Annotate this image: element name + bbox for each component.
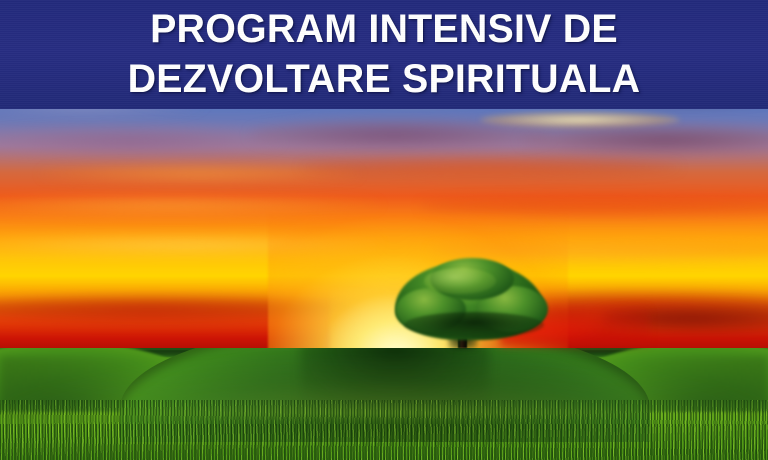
title-banner: PROGRAM INTENSIV DE DEZVOLTARE SPIRITUAL… — [0, 0, 768, 109]
cloud-mauve-band-right — [520, 126, 768, 154]
cloud-mauve-band-left — [0, 128, 280, 154]
cloud-orange-streak-3 — [0, 196, 380, 214]
cloud-orange-streak-4 — [420, 196, 768, 216]
tree-canopy-underside-shadow — [404, 312, 544, 338]
spiritual-development-program-poster: PROGRAM INTENSIV DE DEZVOLTARE SPIRITUAL… — [0, 0, 768, 460]
grass-texture-foreground — [0, 424, 768, 460]
poster-title: PROGRAM INTENSIV DE DEZVOLTARE SPIRITUAL… — [0, 4, 768, 104]
poster-title-line-1: PROGRAM INTENSIV DE — [6, 4, 762, 54]
cloud-orange-streak-2 — [300, 158, 680, 176]
cloud-mauve-band-center — [250, 120, 550, 150]
tree-canopy-highlight — [424, 268, 496, 294]
grass-field — [0, 348, 768, 460]
poster-title-line-2: DEZVOLTARE SPIRITUALA — [6, 54, 762, 104]
